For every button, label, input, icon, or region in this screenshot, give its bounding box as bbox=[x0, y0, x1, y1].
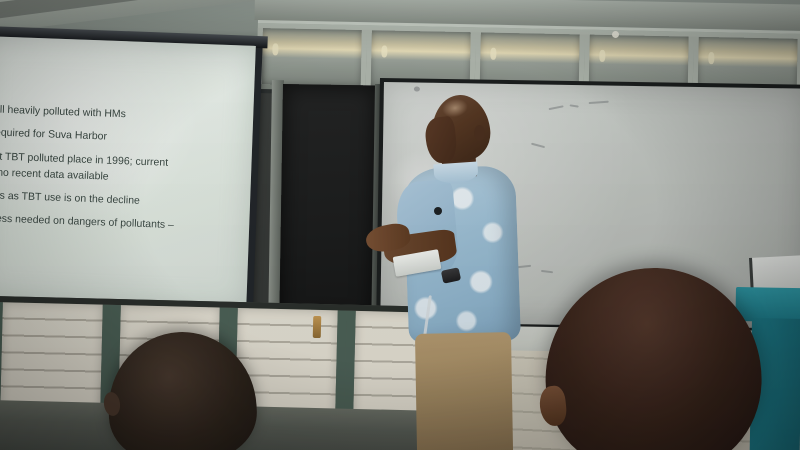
podium-top bbox=[735, 287, 800, 322]
projection-screen[interactable]: ns was/is still heavily polluted with HM… bbox=[0, 36, 256, 310]
slide-bullet: was/is still heavily polluted with HMs bbox=[0, 100, 245, 127]
lapel-microphone bbox=[434, 207, 442, 215]
slide-bullet: c awareness needed on dangers of polluta… bbox=[0, 209, 241, 236]
presenter-ear bbox=[474, 125, 485, 141]
slide-bullet: M data required for Suva Harbor bbox=[0, 123, 245, 150]
slide-title: ns bbox=[0, 69, 247, 97]
blackboard-panel bbox=[279, 84, 377, 323]
presenter-trousers bbox=[415, 332, 513, 450]
slide-bullet: s - on HMs as TBT use is on the decline bbox=[0, 186, 242, 213]
presentation-slide: ns was/is still heavily polluted with HM… bbox=[0, 36, 256, 310]
lecture-room-photo: ns was/is still heavily polluted with HM… bbox=[0, 0, 800, 450]
window-latch[interactable] bbox=[313, 316, 322, 338]
slide-bullet-list: was/is still heavily polluted with HMs M… bbox=[0, 101, 245, 236]
ceiling-light-spot bbox=[612, 31, 619, 38]
whiteboard-magnet bbox=[414, 86, 420, 91]
presenter-face bbox=[424, 116, 459, 165]
clerestory-pane bbox=[257, 28, 367, 86]
